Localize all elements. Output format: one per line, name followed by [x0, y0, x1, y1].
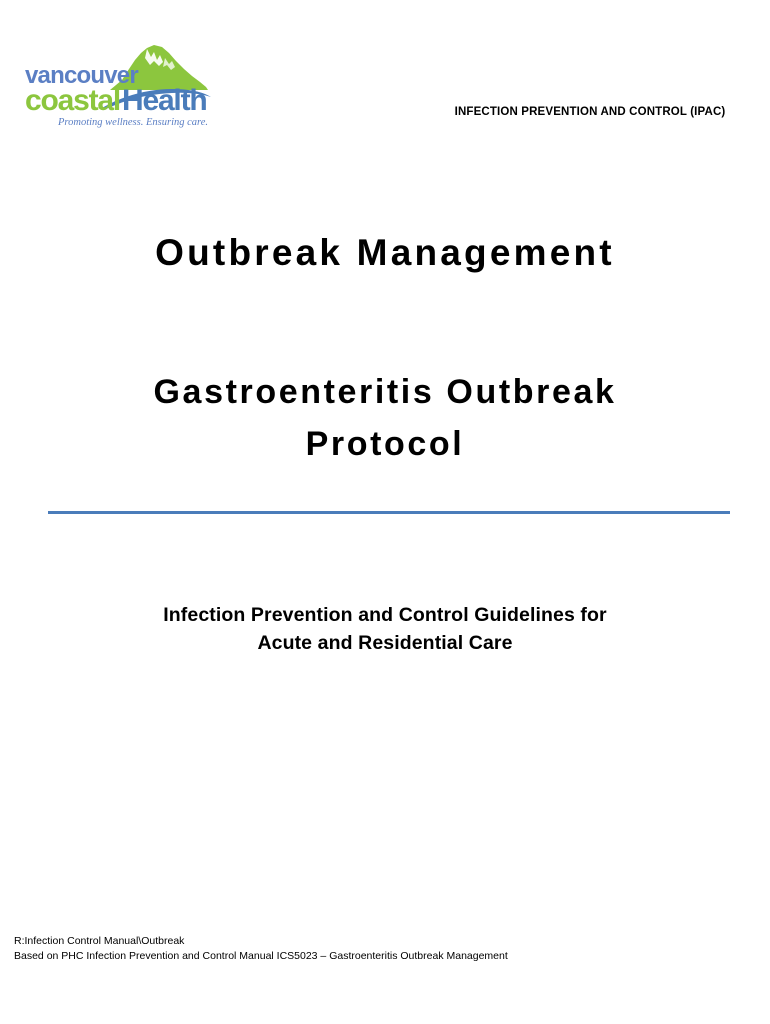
logo-tagline: Promoting wellness. Ensuring care. [57, 117, 208, 128]
guidelines-heading-line-1: Infection Prevention and Control Guideli… [0, 602, 770, 630]
document-header: vancouver coastal Health Promoting welln… [0, 36, 770, 140]
guidelines-heading-line-2: Acute and Residential Care [0, 630, 770, 658]
horizontal-divider [48, 511, 730, 514]
page-subtitle-line-2: Protocol [0, 419, 770, 471]
document-footer: R:Infection Control Manual\Outbreak Base… [14, 934, 754, 964]
department-title: INFECTION PREVENTION AND CONTROL (IPAC) [420, 106, 760, 118]
footer-source-reference: Based on PHC Infection Prevention and Co… [14, 949, 754, 964]
page-title: Outbreak Management [0, 232, 770, 275]
vancouver-coastal-health-logo: vancouver coastal Health Promoting welln… [14, 36, 214, 136]
document-page: vancouver coastal Health Promoting welln… [0, 0, 770, 1024]
logo-text-coastal: coastal [25, 84, 120, 117]
logo-text-health: Health [122, 84, 207, 117]
title-block: Outbreak Management Gastroenteritis Outb… [0, 232, 770, 275]
logo-graphic: vancouver coastal Health Promoting welln… [14, 36, 214, 136]
page-subtitle: Gastroenteritis Outbreak Protocol [0, 367, 770, 470]
footer-file-path: R:Infection Control Manual\Outbreak [14, 934, 754, 949]
page-subtitle-line-1: Gastroenteritis Outbreak [154, 373, 617, 411]
guidelines-heading: Infection Prevention and Control Guideli… [0, 602, 770, 657]
